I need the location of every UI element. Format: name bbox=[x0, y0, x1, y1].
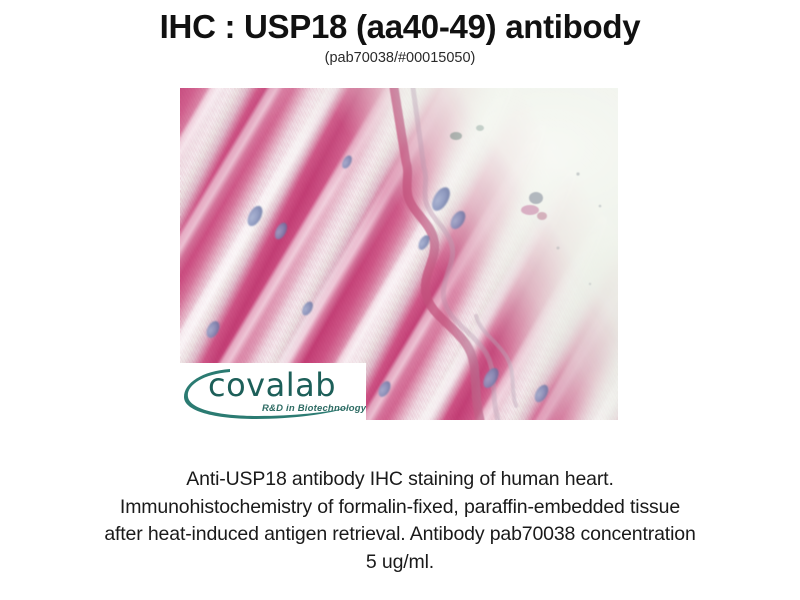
logo-wordmark: covalab bbox=[208, 369, 336, 401]
logo-tagline: R&D in Biotechnology bbox=[262, 403, 366, 414]
figure-page: IHC : USP18 (aa40-49) antibody (pab70038… bbox=[0, 0, 800, 600]
figure-caption: Anti-USP18 antibody IHC staining of huma… bbox=[100, 466, 700, 577]
caption-text: Anti-USP18 antibody IHC staining of huma… bbox=[100, 466, 700, 577]
micrograph-panel: covalab R&D in Biotechnology bbox=[180, 88, 618, 420]
covalab-logo: covalab R&D in Biotechnology bbox=[180, 363, 366, 420]
micrograph-image: covalab R&D in Biotechnology bbox=[180, 88, 618, 420]
page-title: IHC : USP18 (aa40-49) antibody bbox=[0, 9, 800, 46]
figure-header: IHC : USP18 (aa40-49) antibody (pab70038… bbox=[0, 0, 800, 66]
figure-catalog-subtitle: (pab70038/#00015050) bbox=[0, 50, 800, 66]
